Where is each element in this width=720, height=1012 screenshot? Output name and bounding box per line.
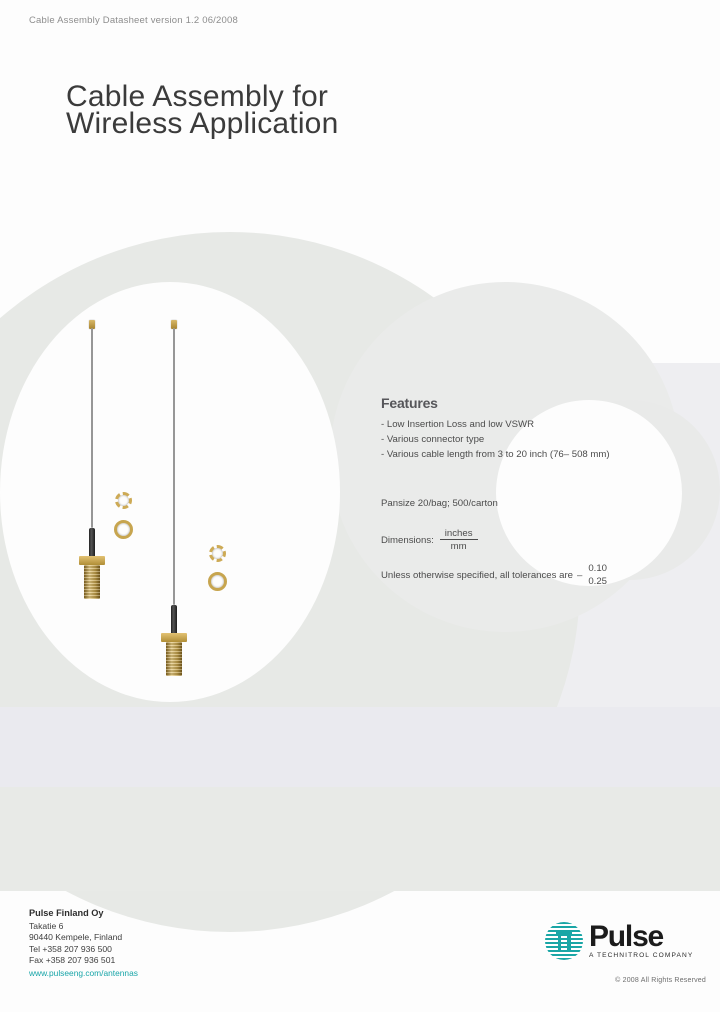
dimensions-label: Dimensions: [381,535,434,546]
cable-strain-relief [89,528,95,558]
lock-washer [115,492,132,509]
pulse-globe-icon [545,922,583,960]
fax-number: Fax +358 207 936 501 [29,955,138,967]
datasheet-page: Cable Assembly Datasheet version 1.2 06/… [0,0,720,1012]
tolerance-value-mm: 0.25 [588,575,607,588]
pi-leg-left [558,934,562,953]
packaging-note: Pansize 20/bag; 500/carton [381,498,498,509]
sma-flange [161,633,187,642]
website-link[interactable]: www.pulseeng.com/antennas [29,968,138,980]
pi-leg-right [567,934,571,953]
logo-tagline: A TECHNITROL COMPANY [589,952,693,959]
copyright-notice: © 2008 All Rights Reserved [615,977,706,984]
coax-cable [173,328,175,605]
page-title: Cable Assembly for Wireless Application [66,83,338,137]
background-band-lavender [0,707,720,788]
pi-symbol-icon [556,930,572,952]
background-band-lower [0,787,720,891]
address-city: 90440 Kempele, Finland [29,932,138,944]
lock-washer [209,545,226,562]
page-title-line-2: Wireless Application [66,110,338,137]
logo-wordmark: Pulse [589,923,693,951]
features-section: Features - Low Insertion Loss and low VS… [381,395,681,462]
sma-thread-texture [166,642,182,676]
address-street: Takatie 6 [29,921,138,933]
sma-thread-texture [84,565,100,599]
feature-item: - Various cable length from 3 to 20 inch… [381,447,681,462]
feature-item: - Various connector type [381,432,681,447]
hex-nut [114,520,133,539]
plus-minus-icon: – [577,570,582,581]
dimensions-numerator: inches [440,528,478,540]
hex-nut [208,572,227,591]
logo-text: Pulse A TECHNITROL COMPANY [589,923,693,959]
tolerance-values: 0.10 0.25 [588,562,607,588]
phone-number: Tel +358 207 936 500 [29,944,138,956]
features-heading: Features [381,395,681,411]
tolerance-value-inches: 0.10 [588,562,607,575]
sma-connector-body [84,565,100,599]
feature-item: - Low Insertion Loss and low VSWR [381,417,681,432]
tolerance-text: Unless otherwise specified, all toleranc… [381,570,573,581]
dimensions-note: Dimensions: inches mm [381,528,478,552]
pulse-logo: Pulse A TECHNITROL COMPANY [545,922,693,960]
dimensions-denominator: mm [451,540,467,552]
coax-cable [91,328,93,528]
footer-address-block: Pulse Finland Oy Takatie 6 90440 Kempele… [29,908,138,979]
company-name: Pulse Finland Oy [29,908,138,920]
cable-strain-relief [171,605,177,635]
dimensions-unit-fraction: inches mm [440,528,478,552]
tolerance-note: Unless otherwise specified, all toleranc… [381,562,607,588]
product-photo [60,300,350,690]
sma-flange [79,556,105,565]
sma-connector-body [166,642,182,676]
document-version-line: Cable Assembly Datasheet version 1.2 06/… [29,15,238,26]
